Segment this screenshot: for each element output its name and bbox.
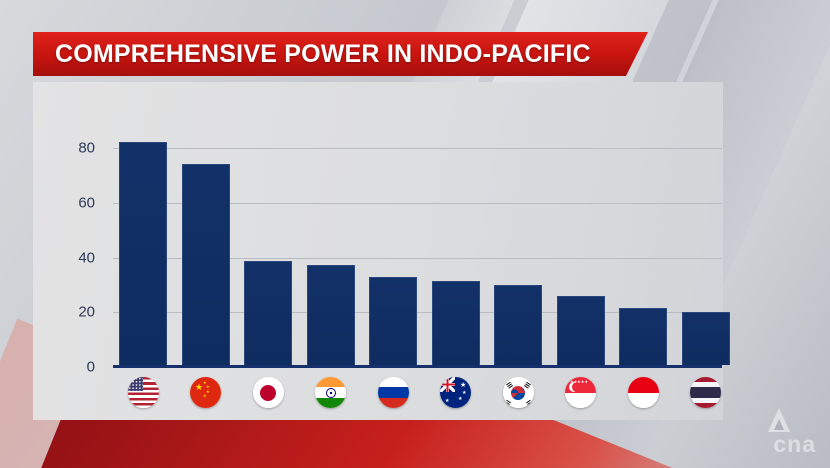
title-banner: COMPREHENSIVE POWER IN INDO-PACIFIC bbox=[33, 32, 648, 76]
page-title: COMPREHENSIVE POWER IN INDO-PACIFIC bbox=[33, 40, 591, 69]
bar[interactable] bbox=[494, 285, 542, 365]
bar[interactable] bbox=[682, 312, 730, 365]
category-flag-wrapper: ★★★★ bbox=[432, 377, 480, 408]
flag-kr-icon bbox=[503, 377, 534, 408]
category-flag-wrapper bbox=[244, 377, 292, 408]
bar[interactable] bbox=[432, 281, 480, 365]
category-flag-wrapper: ★★★★★ bbox=[182, 377, 230, 408]
flag-au-icon: ★★★★ bbox=[440, 377, 471, 408]
flag-ru-icon bbox=[378, 377, 409, 408]
bar[interactable] bbox=[244, 261, 292, 365]
y-axis-tick-label: 60 bbox=[33, 195, 95, 212]
chart-panel: 020406080 ★★★★★★★★★★★★★★ bbox=[33, 82, 723, 420]
category-flag-wrapper bbox=[619, 377, 667, 408]
cna-logo: cna bbox=[744, 408, 816, 458]
y-axis-tick-label: 20 bbox=[33, 304, 95, 321]
y-axis-tick-label: 0 bbox=[33, 359, 95, 376]
y-axis-tick-label: 40 bbox=[33, 249, 95, 266]
chart-plot-area: 020406080 ★★★★★★★★★★★★★★ bbox=[33, 82, 723, 420]
bar[interactable] bbox=[307, 265, 355, 365]
flag-id-icon bbox=[628, 377, 659, 408]
category-flag-wrapper bbox=[682, 377, 730, 408]
flag-cn-icon: ★★★★★ bbox=[190, 377, 221, 408]
bar[interactable] bbox=[619, 308, 667, 365]
category-flag-wrapper bbox=[494, 377, 542, 408]
flag-in-icon bbox=[315, 377, 346, 408]
category-flag-wrapper bbox=[119, 377, 167, 408]
category-flag-wrapper: ★★★★★ bbox=[557, 377, 605, 408]
category-flag-wrapper bbox=[369, 377, 417, 408]
y-axis-tick-label: 80 bbox=[33, 140, 95, 157]
bar[interactable] bbox=[119, 142, 167, 365]
bar[interactable] bbox=[557, 296, 605, 365]
flag-jp-icon bbox=[253, 377, 284, 408]
category-flag-wrapper bbox=[307, 377, 355, 408]
chart-category-flags: ★★★★★★★★★★★★★★ bbox=[119, 368, 715, 408]
bar[interactable] bbox=[182, 164, 230, 365]
cna-wordmark: cna bbox=[773, 433, 816, 456]
flag-th-icon bbox=[690, 377, 721, 408]
chart-bars bbox=[119, 119, 715, 365]
cna-triangle-inner-icon bbox=[774, 419, 784, 430]
flag-sg-icon: ★★★★★ bbox=[565, 377, 596, 408]
bar[interactable] bbox=[369, 277, 417, 365]
flag-us-icon bbox=[128, 377, 159, 408]
